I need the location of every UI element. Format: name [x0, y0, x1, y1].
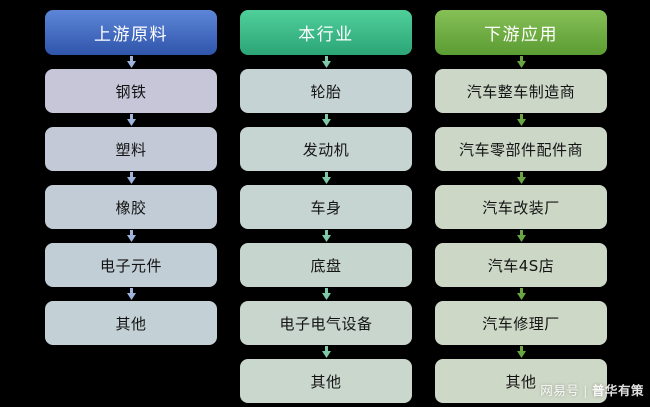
chain-item-label: 汽车改装厂	[482, 197, 560, 218]
arrow-down-icon	[45, 113, 217, 127]
arrow-down-icon	[45, 55, 217, 69]
chain-item-label: 其他	[310, 371, 341, 392]
arrow-down-icon	[45, 287, 217, 301]
column-header-industry[interactable]: 本行业	[240, 10, 412, 55]
chain-item-label: 车身	[310, 197, 341, 218]
chain-item[interactable]: 钢铁	[45, 69, 217, 113]
watermark-separator: |	[583, 383, 588, 398]
chain-item[interactable]: 塑料	[45, 127, 217, 171]
chain-item[interactable]: 电子电气设备	[240, 301, 412, 345]
chain-item-label: 汽车零部件配件商	[459, 139, 583, 160]
arrow-down-icon	[45, 171, 217, 185]
arrow-down-icon	[435, 171, 607, 185]
chain-column-downstream: 下游应用汽车整车制造商汽车零部件配件商汽车改装厂汽车4S店汽车修理厂其他	[435, 0, 607, 403]
arrow-down-icon	[240, 345, 412, 359]
arrow-down-icon	[435, 345, 607, 359]
chain-column-upstream: 上游原料钢铁塑料橡胶电子元件其他	[45, 0, 217, 345]
chain-item[interactable]: 汽车改装厂	[435, 185, 607, 229]
chain-item-label: 电子元件	[100, 255, 162, 276]
chain-item-label: 钢铁	[115, 81, 146, 102]
arrow-down-icon	[240, 113, 412, 127]
watermark-platform: 网易号	[540, 383, 579, 398]
chain-item[interactable]: 底盘	[240, 243, 412, 287]
column-header-upstream[interactable]: 上游原料	[45, 10, 217, 55]
arrow-down-icon	[45, 229, 217, 243]
column-header-label: 上游原料	[94, 20, 168, 45]
watermark-brand: 普华有策	[592, 383, 644, 398]
column-header-label: 下游应用	[484, 20, 558, 45]
column-header-label: 本行业	[298, 20, 354, 45]
chain-item[interactable]: 汽车4S店	[435, 243, 607, 287]
chain-item[interactable]: 橡胶	[45, 185, 217, 229]
chain-item-label: 轮胎	[310, 81, 341, 102]
chain-item-label: 电子电气设备	[279, 313, 372, 334]
chain-item-label: 汽车整车制造商	[467, 81, 576, 102]
chain-item[interactable]: 汽车零部件配件商	[435, 127, 607, 171]
chain-item[interactable]: 发动机	[240, 127, 412, 171]
chain-item[interactable]: 车身	[240, 185, 412, 229]
industry-chain-diagram: 上游原料钢铁塑料橡胶电子元件其他本行业轮胎发动机车身底盘电子电气设备其他下游应用…	[0, 0, 650, 407]
arrow-down-icon	[435, 287, 607, 301]
chain-item-label: 橡胶	[115, 197, 146, 218]
chain-item-label: 其他	[505, 371, 536, 392]
chain-item-label: 其他	[115, 313, 146, 334]
arrow-down-icon	[240, 229, 412, 243]
chain-item-label: 底盘	[310, 255, 341, 276]
chain-item[interactable]: 电子元件	[45, 243, 217, 287]
arrow-down-icon	[240, 287, 412, 301]
chain-item[interactable]: 轮胎	[240, 69, 412, 113]
chain-item[interactable]: 其他	[240, 359, 412, 403]
watermark: 网易号|普华有策	[540, 380, 644, 399]
chain-item[interactable]: 汽车整车制造商	[435, 69, 607, 113]
arrow-down-icon	[435, 55, 607, 69]
arrow-down-icon	[435, 229, 607, 243]
chain-item-label: 汽车修理厂	[482, 313, 560, 334]
arrow-down-icon	[435, 113, 607, 127]
arrow-down-icon	[240, 55, 412, 69]
chain-column-industry: 本行业轮胎发动机车身底盘电子电气设备其他	[240, 0, 412, 403]
chain-item-label: 发动机	[303, 139, 350, 160]
arrow-down-icon	[240, 171, 412, 185]
chain-item-label: 汽车4S店	[488, 255, 555, 276]
column-header-downstream[interactable]: 下游应用	[435, 10, 607, 55]
chain-item-label: 塑料	[115, 139, 146, 160]
chain-item[interactable]: 其他	[45, 301, 217, 345]
chain-item[interactable]: 汽车修理厂	[435, 301, 607, 345]
